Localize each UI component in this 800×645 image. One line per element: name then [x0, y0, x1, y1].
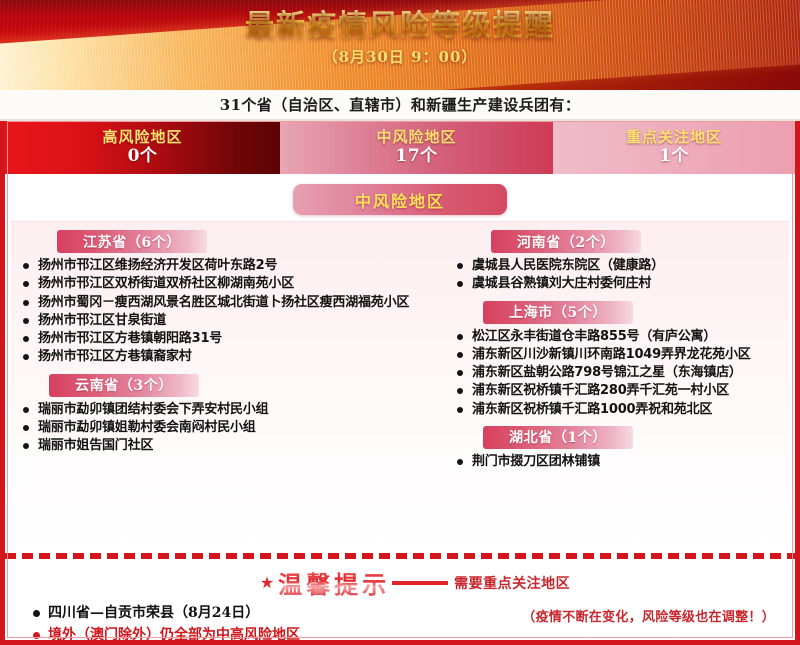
list-item: 扬州市邗江区双桥街道双桥社区柳湖南苑小区	[21, 275, 431, 292]
list-item: 扬州市邗江区甘泉街道	[21, 312, 431, 329]
province-pill-yunnan-label: 云南省（3个）	[75, 375, 173, 395]
regions-column-left: 江苏省（6个） 扬州市邗江区维扬经济开发区荷叶东路2号 扬州市邗江区双桥街道双桥…	[11, 222, 441, 551]
tips-title-row: ★ 温馨提示 需要重点关注地区	[5, 565, 795, 600]
tips-left-column: 四川省—自贡市荣县（8月24日） 境外（澳门除外）仍全部为中高风险地区	[5, 604, 435, 645]
list-item: 扬州市邗江区方巷镇裔家村	[21, 348, 431, 365]
risk-segment-focus[interactable]: 重点关注地区 1个	[553, 121, 795, 174]
risk-segment-medium-count: 17个	[395, 146, 437, 167]
risk-segment-high[interactable]: 高风险地区 0个	[5, 121, 280, 174]
list-item: 浦东新区祝桥镇千汇路280弄千汇苑一村小区	[455, 382, 779, 399]
list-item: 境外（澳门除外）仍全部为中高风险地区	[31, 626, 435, 644]
risk-segment-focus-label: 重点关注地区	[626, 128, 722, 147]
risk-segment-high-label: 高风险地区	[102, 128, 182, 147]
star-icon: ★	[260, 575, 274, 591]
page-title: 最新疫情风险等级提醒	[0, 8, 800, 43]
province-pill-hubei: 湖北省（1个）	[483, 426, 633, 449]
province-pill-shanghai: 上海市（5个）	[483, 301, 633, 324]
province-pill-shanghai-label: 上海市（5个）	[509, 302, 607, 322]
header-datetime: （8月30日 9：00）	[0, 46, 800, 67]
list-item: 虞城县人民医院东院区（健康路）	[455, 257, 779, 274]
province-pill-henan-label: 河南省（2个）	[517, 232, 615, 252]
tips-body: 四川省—自贡市荣县（8月24日） 境外（澳门除外）仍全部为中高风险地区 （疫情不…	[5, 604, 795, 645]
list-item: 扬州市邗江区维扬经济开发区荷叶东路2号	[21, 257, 431, 274]
area-list-jiangsu: 扬州市邗江区维扬经济开发区荷叶东路2号 扬州市邗江区双桥街道双桥社区柳湖南苑小区…	[21, 257, 431, 366]
tips-note: 需要重点关注地区	[454, 573, 570, 593]
list-item: 虞城县谷熟镇刘大庄村委何庄村	[455, 275, 779, 292]
list-item: 瑞丽市姐告国门社区	[21, 437, 431, 454]
tips-section: ★ 温馨提示 需要重点关注地区 四川省—自贡市荣县（8月24日） 境外（澳门除外…	[5, 559, 795, 645]
list-item: 瑞丽市勐卯镇姐勒村委会南闷村民小组	[21, 419, 431, 436]
section-pill-wrapper: 中风险地区	[5, 174, 795, 221]
tips-title: 温馨提示	[278, 565, 390, 600]
risk-segment-medium[interactable]: 中风险地区 17个	[280, 121, 553, 174]
risk-level-bar: 高风险地区 0个 中风险地区 17个 重点关注地区 1个	[5, 121, 795, 174]
province-pill-jiangsu-label: 江苏省（6个）	[83, 232, 181, 252]
risk-segment-focus-count: 1个	[659, 146, 689, 167]
list-item: 瑞丽市勐卯镇团结村委会下弄安村民小组	[21, 401, 431, 418]
list-item: 浦东新区祝桥镇千汇路1000弄祝和苑北区	[455, 401, 779, 418]
regions-column-right: 河南省（2个） 虞城县人民医院东院区（健康路） 虞城县谷熟镇刘大庄村委何庄村 上…	[441, 222, 789, 551]
tips-caution: （疫情不断在变化，风险等级也在调整！）	[435, 606, 775, 625]
province-pill-hubei-label: 湖北省（1个）	[509, 427, 607, 447]
area-list-henan: 虞城县人民医院东院区（健康路） 虞城县谷熟镇刘大庄村委何庄村	[455, 257, 779, 293]
tips-list: 四川省—自贡市荣县（8月24日） 境外（澳门除外）仍全部为中高风险地区	[31, 604, 435, 644]
subhead-band: 31个省（自治区、直辖市）和新疆生产建设兵团有：	[0, 90, 800, 121]
risk-segment-medium-label: 中风险地区	[376, 128, 456, 147]
list-item: 扬州市邗江区方巷镇朝阳路31号	[21, 330, 431, 347]
risk-segment-high-count: 0个	[128, 146, 158, 167]
list-item: 松江区永丰街道仓丰路855号（有庐公寓）	[455, 328, 779, 345]
tips-dash-rule	[392, 581, 448, 585]
list-item: 四川省—自贡市荣县（8月24日）	[31, 604, 435, 622]
area-list-yunnan: 瑞丽市勐卯镇团结村委会下弄安村民小组 瑞丽市勐卯镇姐勒村委会南闷村民小组 瑞丽市…	[21, 401, 431, 455]
content-frame: 高风险地区 0个 中风险地区 17个 重点关注地区 1个 中风险地区 江	[0, 121, 800, 645]
list-item: 扬州市蜀冈－瘦西湖风景名胜区城北街道卜扬社区瘦西湖福苑小区	[21, 294, 431, 311]
tips-right-column: （疫情不断在变化，风险等级也在调整！） 广东省卫生健康委医政医管处	[435, 604, 795, 645]
subhead-text: 31个省（自治区、直辖市）和新疆生产建设兵团有：	[220, 94, 580, 115]
header-banner: 最新疫情风险等级提醒 （8月30日 9：00）	[0, 0, 800, 90]
area-list-hubei: 荆门市掇刀区团林铺镇	[455, 453, 779, 470]
list-item: 荆门市掇刀区团林铺镇	[455, 453, 779, 470]
regions-panel: 江苏省（6个） 扬州市邗江区维扬经济开发区荷叶东路2号 扬州市邗江区双桥街道双桥…	[11, 221, 789, 551]
list-item: 浦东新区川沙新镇川环南路1049弄界龙花苑小区	[455, 346, 779, 363]
header-text-group: 最新疫情风险等级提醒 （8月30日 9：00）	[0, 8, 800, 67]
area-list-shanghai: 松江区永丰街道仓丰路855号（有庐公寓） 浦东新区川沙新镇川环南路1049弄界龙…	[455, 328, 779, 418]
list-item: 浦东新区盐朝公路798号锦江之星（东海镇店）	[455, 364, 779, 381]
section-pill-medium-risk: 中风险地区	[293, 184, 507, 215]
section-pill-label: 中风险地区	[355, 188, 445, 212]
tips-signature: 广东省卫生健康委医政医管处	[435, 635, 781, 645]
province-pill-henan: 河南省（2个）	[491, 230, 641, 253]
province-pill-yunnan: 云南省（3个）	[49, 374, 199, 397]
province-pill-jiangsu: 江苏省（6个）	[57, 230, 207, 253]
poster-root: 最新疫情风险等级提醒 （8月30日 9：00） 31个省（自治区、直辖市）和新疆…	[0, 0, 800, 645]
